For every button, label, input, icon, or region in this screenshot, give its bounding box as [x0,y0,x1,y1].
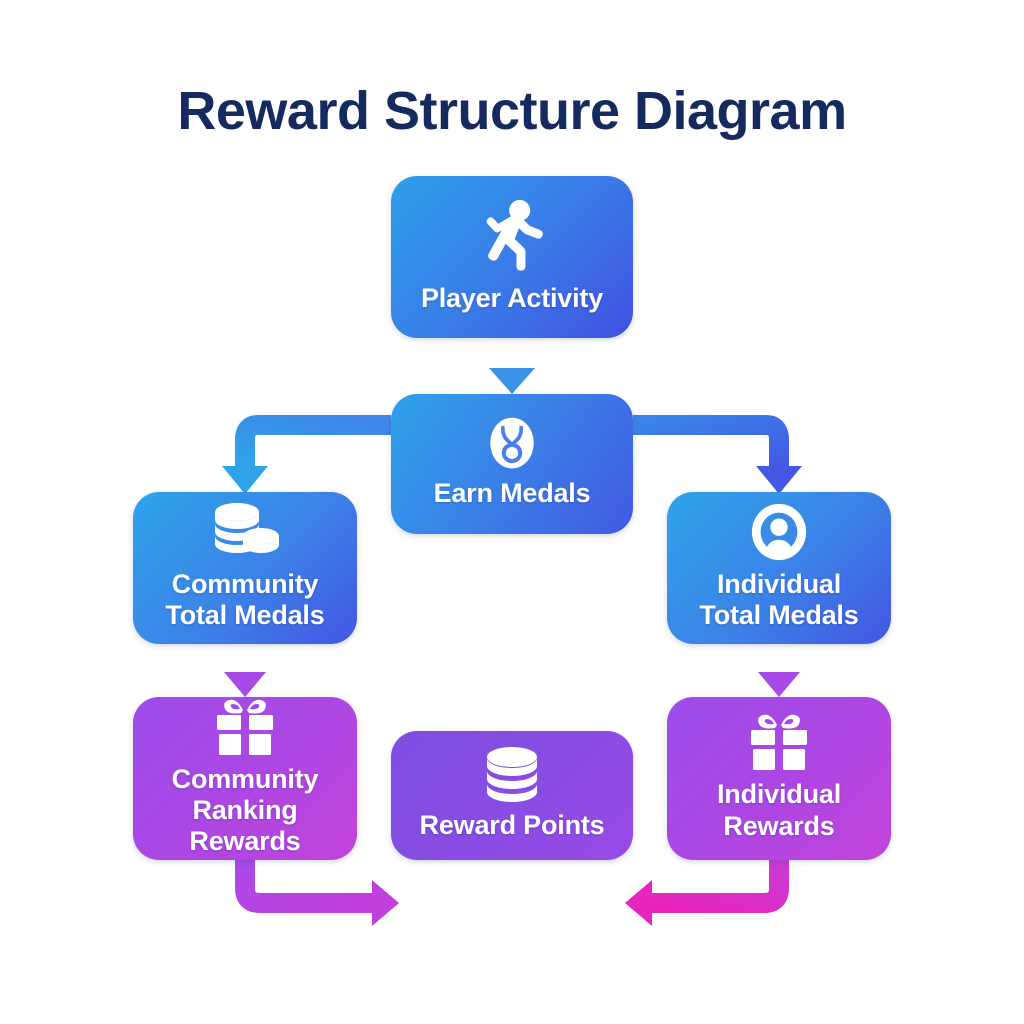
connector-earn-medals-to-individual-total [633,425,802,494]
node-reward-points[interactable]: Reward Points [391,731,633,860]
node-label: Community Ranking Rewards [141,764,349,858]
medal-icon [483,414,541,472]
connector-community-rewards-to-reward-points [245,856,399,926]
node-label: Individual Total Medals [699,569,858,632]
node-community-ranking-rewards[interactable]: Community Ranking Rewards [133,697,357,860]
connector-individual-rewards-to-reward-points [625,856,779,926]
node-player-activity[interactable]: Player Activity [391,176,633,338]
connector-individual-total-to-individual-rewards [758,640,800,697]
node-earn-medals[interactable]: Earn Medals [391,394,633,534]
running-person-icon [471,195,553,277]
database-stack-icon [481,746,543,804]
node-community-total-medals[interactable]: Community Total Medals [133,492,357,644]
node-label: Player Activity [421,283,603,314]
coin-stack-icon [207,501,283,563]
node-label: Reward Points [420,810,605,841]
gift-box-icon [212,696,278,758]
diagram-canvas: Reward Structure Diagram [0,0,1024,1024]
node-individual-rewards[interactable]: Individual Rewards [667,697,891,860]
node-label: Individual Rewards [717,779,841,842]
user-circle-icon [748,501,810,563]
gift-box-icon [746,711,812,773]
connector-earn-medals-to-community-total [222,425,391,494]
connector-community-total-to-community-rewards [224,640,266,697]
node-individual-total-medals[interactable]: Individual Total Medals [667,492,891,644]
node-label: Community Total Medals [165,569,324,632]
node-label: Earn Medals [434,478,591,509]
connector-player-activity-to-earn-medals [489,330,535,394]
